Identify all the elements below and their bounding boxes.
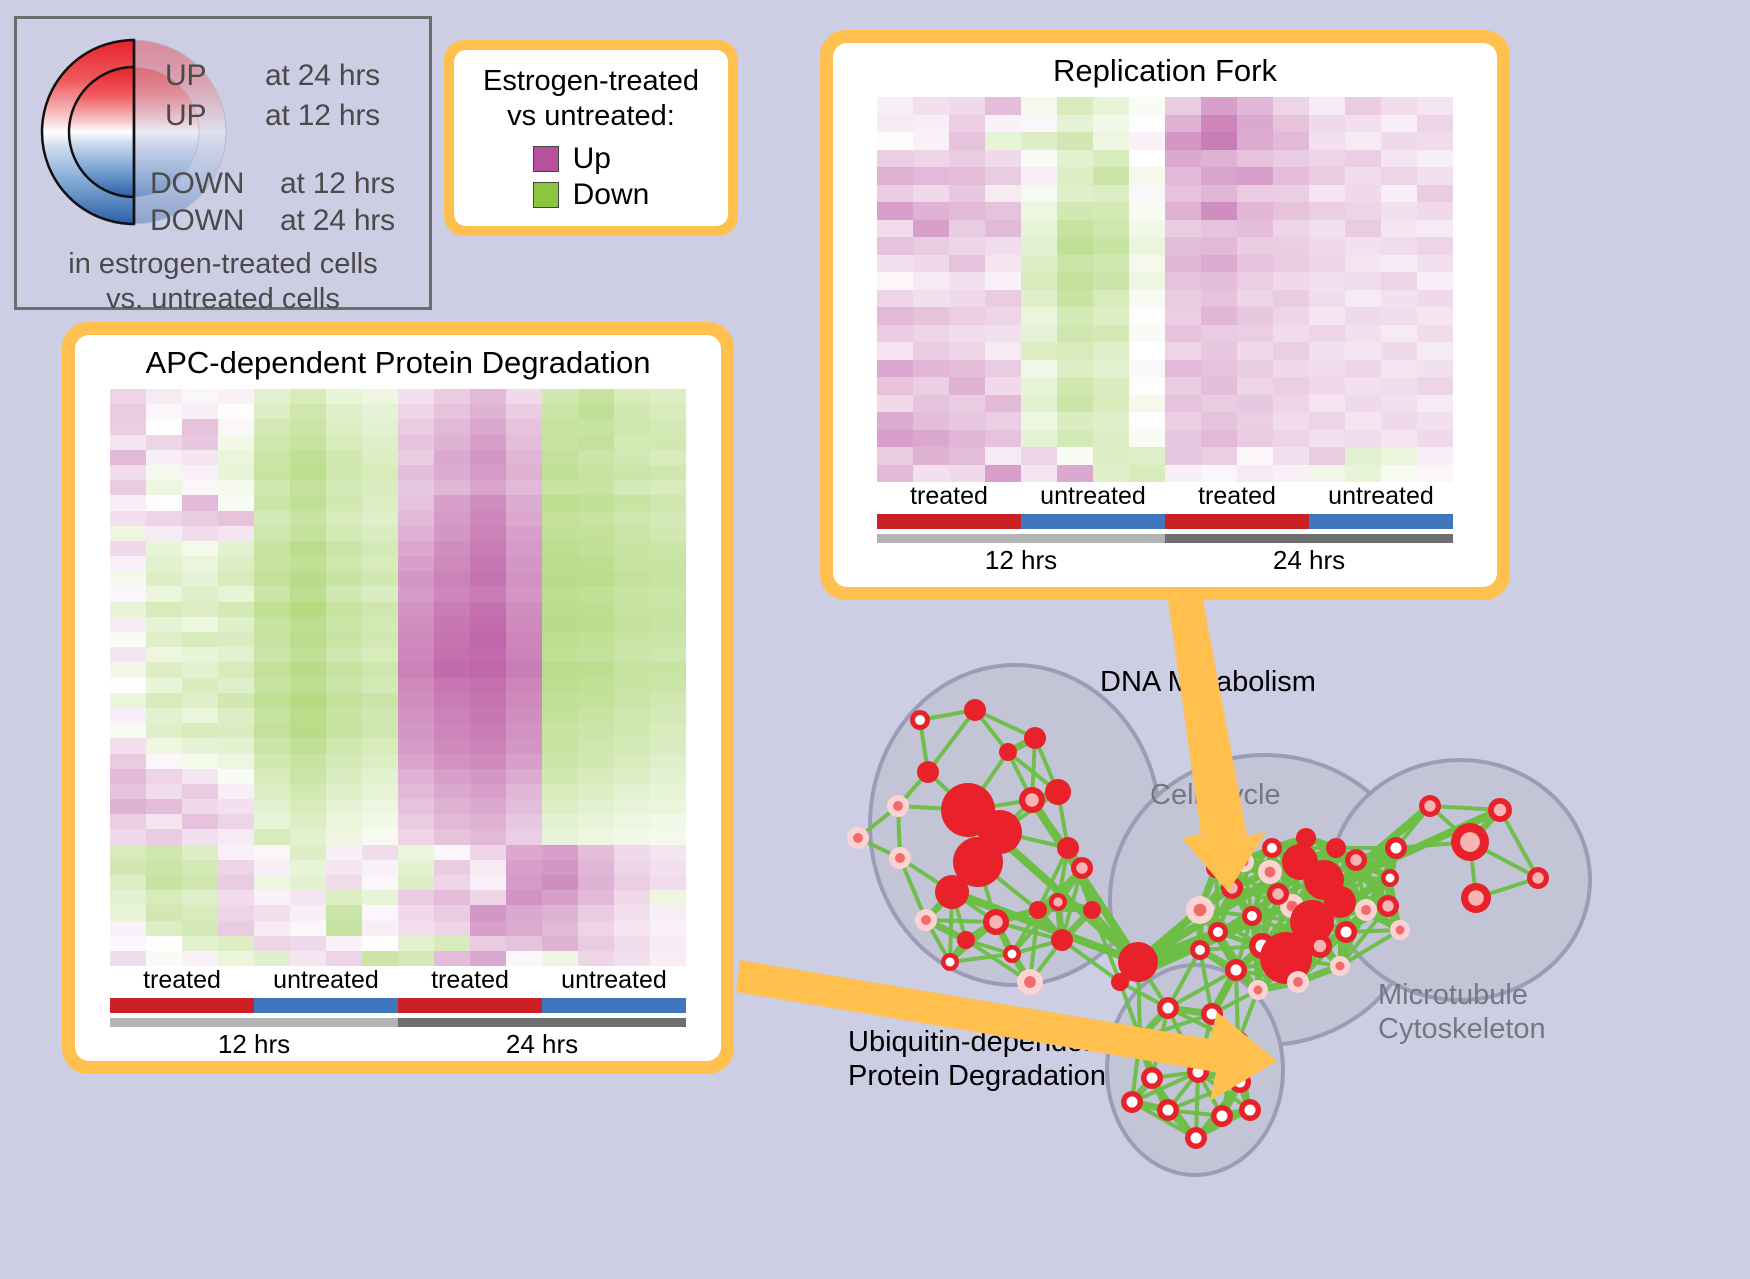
heatmap-cell <box>506 586 542 601</box>
heatmap-cell <box>1345 185 1381 203</box>
heatmap-cell <box>1093 360 1129 378</box>
heatmap-cell <box>218 450 254 465</box>
heatmap-cell <box>290 723 326 738</box>
heatmap-cell <box>398 419 434 434</box>
heatmap-cell <box>1201 430 1237 448</box>
heatmap-cell <box>218 723 254 738</box>
heatmap-cell <box>182 890 218 905</box>
heatmap-cell <box>650 571 686 586</box>
heatmap-cell <box>434 662 470 677</box>
heatmap-cell <box>434 541 470 556</box>
heatmap-cell <box>110 754 146 769</box>
heatmap-cell <box>1057 342 1093 360</box>
heatmap-cell <box>218 435 254 450</box>
heatmap-cell <box>985 115 1021 133</box>
heatmap-cell <box>470 860 506 875</box>
heatmap-cell <box>290 647 326 662</box>
heatmap-cell <box>182 708 218 723</box>
heatmap-cell <box>1129 465 1165 483</box>
heatmap-cell <box>614 723 650 738</box>
heatmap-cell <box>1237 202 1273 220</box>
heatmap-cell <box>1093 237 1129 255</box>
heatmap-cell <box>434 814 470 829</box>
heatmap-cell <box>506 951 542 966</box>
heatmap-cell <box>326 404 362 419</box>
heatmap-cell <box>1093 377 1129 395</box>
heatmap-cell <box>1273 115 1309 133</box>
heatmap-cell <box>578 404 614 419</box>
heatmap-cell <box>506 738 542 753</box>
heatmap-cell <box>470 511 506 526</box>
heatmap-cell <box>1345 465 1381 483</box>
heatmap-cell <box>1417 97 1453 115</box>
heatmap-cell <box>1345 447 1381 465</box>
heatmap-cell <box>326 480 362 495</box>
heatmap-cell <box>1129 290 1165 308</box>
heatmap-cell <box>470 784 506 799</box>
heatmap-cell <box>362 723 398 738</box>
heatmap-cell <box>985 272 1021 290</box>
heatmap-cell <box>1237 255 1273 273</box>
heatmap-cell <box>290 435 326 450</box>
heatmap-cell <box>434 647 470 662</box>
heatmap-cell <box>146 814 182 829</box>
heatmap-cell <box>218 389 254 404</box>
heatmap-cell <box>326 799 362 814</box>
time-label: 12 hrs <box>110 1029 398 1060</box>
heatmap-cell <box>110 404 146 419</box>
heatmap-cell <box>470 586 506 601</box>
heatmap-cell <box>506 571 542 586</box>
heatmap-cell <box>362 784 398 799</box>
heatmap-cell <box>1309 447 1345 465</box>
heatmap-cell <box>542 647 578 662</box>
heatmap-cell <box>218 678 254 693</box>
heatmap-cell <box>290 708 326 723</box>
heatmap-cell <box>578 693 614 708</box>
heatmap-cell <box>1309 97 1345 115</box>
heatmap-cell <box>1381 150 1417 168</box>
heatmap-cell <box>182 541 218 556</box>
heatmap-cell <box>1309 465 1345 483</box>
heatmap-cell <box>254 678 290 693</box>
group-label: treated <box>1165 482 1309 511</box>
up-swatch-icon <box>533 146 559 172</box>
heatmap-cell <box>326 754 362 769</box>
heatmap-cell <box>877 202 913 220</box>
heatmap-cell <box>578 632 614 647</box>
heatmap-cell <box>913 185 949 203</box>
heatmap-cell <box>1093 395 1129 413</box>
heatmap-cell <box>470 647 506 662</box>
heatmap-cell <box>578 784 614 799</box>
heatmap-cell <box>290 602 326 617</box>
heatmap-cell <box>434 708 470 723</box>
heatmap-cell <box>650 662 686 677</box>
heatmap-cell <box>542 890 578 905</box>
heatmap-cell <box>506 526 542 541</box>
heatmap-cell <box>1165 307 1201 325</box>
heatmap-cell <box>877 290 913 308</box>
heatmap-cell <box>362 936 398 951</box>
heatmap-cell <box>650 693 686 708</box>
group-color-bar-apc <box>110 998 686 1013</box>
heatmap-cell <box>1345 220 1381 238</box>
heatmap-cell <box>578 480 614 495</box>
heatmap-cell <box>290 556 326 571</box>
cluster-label-microtubule: Microtubule Cytoskeleton <box>1378 978 1546 1046</box>
heatmap-cell <box>1417 307 1453 325</box>
heatmap-cell <box>1273 97 1309 115</box>
heatmap-cell <box>434 465 470 480</box>
heatmap-cell <box>1309 272 1345 290</box>
heatmap-cell <box>326 845 362 860</box>
heatmap-cell <box>146 921 182 936</box>
heatmap-apc-degradation <box>110 389 686 966</box>
heatmap-cell <box>506 541 542 556</box>
heatmap-cell <box>1093 115 1129 133</box>
heatmap-cell <box>326 784 362 799</box>
heatmap-cell <box>1201 307 1237 325</box>
heatmap-cell <box>1417 272 1453 290</box>
heatmap-cell <box>578 571 614 586</box>
heatmap-cell <box>506 647 542 662</box>
group-color-segment <box>1021 514 1165 529</box>
heatmap-cell <box>614 662 650 677</box>
heatmap-cell <box>578 814 614 829</box>
heatmap-cell <box>1309 255 1345 273</box>
heatmap-cell <box>470 480 506 495</box>
heatmap-cell <box>110 435 146 450</box>
heatmap-cell <box>182 662 218 677</box>
heatmap-cell <box>1309 132 1345 150</box>
heatmap-cell <box>326 602 362 617</box>
heatmap-cell <box>1201 395 1237 413</box>
heatmap-cell <box>254 905 290 920</box>
heatmap-cell <box>1381 220 1417 238</box>
heatmap-cell <box>1093 272 1129 290</box>
heatmap-cell <box>542 419 578 434</box>
heatmap-cell <box>1417 202 1453 220</box>
heatmap-cell <box>542 784 578 799</box>
heatmap-cell <box>949 447 985 465</box>
legend-time-24b: at 24 hrs <box>280 204 395 238</box>
heatmap-cell <box>110 708 146 723</box>
heatmap-cell <box>1165 325 1201 343</box>
heatmap-cell <box>362 389 398 404</box>
callout-arrows <box>800 610 1750 1279</box>
heatmap-cell <box>218 860 254 875</box>
heatmap-cell <box>398 404 434 419</box>
heatmap-cell <box>146 738 182 753</box>
heatmap-cell <box>326 662 362 677</box>
heatmap-cell <box>362 951 398 966</box>
heatmap-cell <box>398 495 434 510</box>
heatmap-cell <box>542 435 578 450</box>
heatmap-cell <box>1273 430 1309 448</box>
heatmap-cell <box>470 814 506 829</box>
heatmap-cell <box>398 799 434 814</box>
heatmap-cell <box>1417 377 1453 395</box>
heatmap-cell <box>1309 342 1345 360</box>
heatmap-cell <box>949 150 985 168</box>
heatmap-cell <box>913 377 949 395</box>
group-color-segment <box>110 998 254 1013</box>
group-color-segment <box>877 514 1021 529</box>
heatmap-cell <box>470 571 506 586</box>
heatmap-cell <box>254 860 290 875</box>
heatmap-cell <box>398 814 434 829</box>
heatmap-cell <box>614 799 650 814</box>
heatmap-cell <box>1129 220 1165 238</box>
heatmap-cell <box>1309 220 1345 238</box>
heatmap-cell <box>650 389 686 404</box>
heatmap-cell <box>542 404 578 419</box>
heatmap-cell <box>470 419 506 434</box>
heatmap-cell <box>877 307 913 325</box>
heatmap-cell <box>182 526 218 541</box>
heatmap-cell <box>1165 465 1201 483</box>
heatmap-cell <box>650 814 686 829</box>
heatmap-cell <box>290 480 326 495</box>
heatmap-cell <box>985 465 1021 483</box>
heatmap-cell <box>254 511 290 526</box>
heatmap-cell <box>913 237 949 255</box>
heatmap-cell <box>1381 360 1417 378</box>
heatmap-cell <box>398 951 434 966</box>
heatmap-cell <box>650 435 686 450</box>
heatmap-cell <box>1237 360 1273 378</box>
heatmap-cell <box>470 617 506 632</box>
heatmap-cell <box>110 951 146 966</box>
heatmap-cell <box>578 662 614 677</box>
group-color-segment <box>398 998 542 1013</box>
heatmap-cell <box>290 738 326 753</box>
heatmap-cell <box>506 875 542 890</box>
heatmap-cell <box>1057 447 1093 465</box>
heatmap-cell <box>913 342 949 360</box>
heatmap-cell <box>542 905 578 920</box>
heatmap-cell <box>1417 290 1453 308</box>
heatmap-cell <box>326 389 362 404</box>
heatmap-cell <box>218 754 254 769</box>
heatmap-cell <box>146 556 182 571</box>
heatmap-cell <box>470 435 506 450</box>
heatmap-cell <box>913 220 949 238</box>
heatmap-cell <box>1345 430 1381 448</box>
heatmap-cell <box>1165 132 1201 150</box>
heatmap-cell <box>434 556 470 571</box>
heatmap-cell <box>1381 132 1417 150</box>
group-label: treated <box>877 482 1021 511</box>
heatmap-cell <box>913 465 949 483</box>
heatmap-cell <box>614 404 650 419</box>
heatmap-cell <box>506 480 542 495</box>
heatmap-cell <box>434 419 470 434</box>
heatmap-cell <box>218 480 254 495</box>
heatmap-cell <box>1093 132 1129 150</box>
heatmap-cell <box>913 447 949 465</box>
heatmap-cell <box>1237 395 1273 413</box>
heatmap-cell <box>985 430 1021 448</box>
heatmap-cell <box>650 845 686 860</box>
group-color-bar-replication <box>877 514 1453 529</box>
heatmap-cell <box>650 632 686 647</box>
heatmap-cell <box>434 905 470 920</box>
heatmap-cell <box>254 799 290 814</box>
heatmap-cell <box>254 435 290 450</box>
group-labels-replication: treateduntreatedtreateduntreated <box>877 482 1453 511</box>
column-annotation-apc: treateduntreatedtreateduntreated 12 hrs2… <box>110 966 686 1060</box>
heatmap-cell <box>1057 360 1093 378</box>
heatmap-cell <box>985 395 1021 413</box>
heatmap-cell <box>1057 430 1093 448</box>
heatmap-cell <box>1165 430 1201 448</box>
heatmap-cell <box>290 799 326 814</box>
heatmap-cell <box>182 814 218 829</box>
heatmap-cell <box>650 799 686 814</box>
heatmap-cell <box>254 754 290 769</box>
heatmap-cell <box>877 150 913 168</box>
heatmap-cell <box>1129 185 1165 203</box>
heatmap-cell <box>326 814 362 829</box>
down-swatch-icon <box>533 182 559 208</box>
heatmap-cell <box>506 617 542 632</box>
heatmap-cell <box>398 829 434 844</box>
heatmap-cell <box>146 389 182 404</box>
heatmap-cell <box>110 465 146 480</box>
heatmap-cell <box>1057 395 1093 413</box>
microtubule-line1: Microtubule <box>1378 978 1546 1012</box>
heatmap-cell <box>362 814 398 829</box>
heatmap-cell <box>1381 97 1417 115</box>
heatmap-cell <box>1273 395 1309 413</box>
heatmap-cell <box>182 556 218 571</box>
heatmap-cell <box>290 754 326 769</box>
heatmap-cell <box>949 115 985 133</box>
heatmap-cell <box>398 754 434 769</box>
heatmap-cell <box>434 480 470 495</box>
heatmap-cell <box>913 115 949 133</box>
heatmap-cell <box>182 647 218 662</box>
heatmap-cell <box>1417 430 1453 448</box>
heatmap-cell <box>1057 115 1093 133</box>
heatmap-cell <box>614 556 650 571</box>
heatmap-cell <box>470 662 506 677</box>
heatmap-cell <box>182 723 218 738</box>
heatmap-cell <box>290 784 326 799</box>
heatmap-cell <box>398 723 434 738</box>
heatmap-cell <box>326 890 362 905</box>
heatmap-cell <box>949 377 985 395</box>
heatmap-cell <box>110 769 146 784</box>
heatmap-cell <box>1345 97 1381 115</box>
legend-caption-line2: vs. untreated cells <box>17 282 429 317</box>
legend-state-down-24: DOWN <box>150 204 244 238</box>
heatmap-cell <box>110 678 146 693</box>
heatmap-cell <box>1237 132 1273 150</box>
legend-caption: in estrogen-treated cells vs. untreated … <box>17 247 429 317</box>
heatmap-cell <box>578 769 614 784</box>
heatmap-cell <box>110 875 146 890</box>
heatmap-cell <box>1273 237 1309 255</box>
heatmap-cell <box>398 845 434 860</box>
cluster-label-cell-cycle: Cell Cycle <box>1150 778 1281 812</box>
heatmap-cell <box>542 921 578 936</box>
heatmap-cell <box>362 586 398 601</box>
heatmap-cell <box>326 936 362 951</box>
heatmap-cell <box>110 738 146 753</box>
heatmap-cell <box>1201 342 1237 360</box>
heatmap-cell <box>254 738 290 753</box>
estrogen-key-inner: Estrogen-treated vs untreated: Up Down <box>454 50 728 226</box>
heatmap-cell <box>1093 465 1129 483</box>
heatmap-cell <box>1201 185 1237 203</box>
heatmap-cell <box>1237 167 1273 185</box>
heatmap-cell <box>877 185 913 203</box>
heatmap-cell <box>1345 272 1381 290</box>
heatmap-cell <box>470 875 506 890</box>
heatmap-cell <box>326 829 362 844</box>
group-label: treated <box>398 966 542 995</box>
heatmap-cell <box>1129 167 1165 185</box>
heatmap-cell <box>542 723 578 738</box>
heatmap-cell <box>146 465 182 480</box>
heatmap-cell <box>542 541 578 556</box>
heatmap-cell <box>362 708 398 723</box>
heatmap-cell <box>470 450 506 465</box>
heatmap-cell <box>949 97 985 115</box>
group-label: untreated <box>1021 482 1165 511</box>
heatmap-cell <box>1345 395 1381 413</box>
heatmap-cell <box>578 829 614 844</box>
heatmap-cell <box>1093 342 1129 360</box>
heatmap-cell <box>578 678 614 693</box>
heatmap-cell <box>614 450 650 465</box>
heatmap-cell <box>1129 150 1165 168</box>
heatmap-cell <box>182 921 218 936</box>
heatmap-cell <box>470 541 506 556</box>
heatmap-cell <box>650 738 686 753</box>
heatmap-cell <box>542 951 578 966</box>
heatmap-cell <box>578 450 614 465</box>
legend-caption-line1: in estrogen-treated cells <box>17 247 429 282</box>
heatmap-cell <box>1021 395 1057 413</box>
heatmap-cell <box>1237 307 1273 325</box>
heatmap-cell <box>1129 430 1165 448</box>
heatmap-cell <box>182 632 218 647</box>
time-color-bar-apc <box>110 1018 686 1027</box>
heatmap-cell <box>1237 272 1273 290</box>
heatmap-cell <box>542 678 578 693</box>
heatmap-cell <box>470 890 506 905</box>
heatmap-cell <box>1417 255 1453 273</box>
legend-state-down-12: DOWN <box>150 167 244 201</box>
protein-network-diagram: DNA Metabolism Cell Cycle Microtubule Cy… <box>800 610 1750 1279</box>
heatmap-cell <box>877 272 913 290</box>
heatmap-cell <box>110 799 146 814</box>
heatmap-cell <box>146 586 182 601</box>
heatmap-cell <box>1093 97 1129 115</box>
group-label: untreated <box>542 966 686 995</box>
heatmap-cell <box>218 526 254 541</box>
heatmap-cell <box>1237 412 1273 430</box>
heatmap-cell <box>1237 325 1273 343</box>
heatmap-cell <box>290 921 326 936</box>
heatmap-cell <box>254 495 290 510</box>
heatmap-cell <box>218 662 254 677</box>
heatmap-cell <box>506 814 542 829</box>
